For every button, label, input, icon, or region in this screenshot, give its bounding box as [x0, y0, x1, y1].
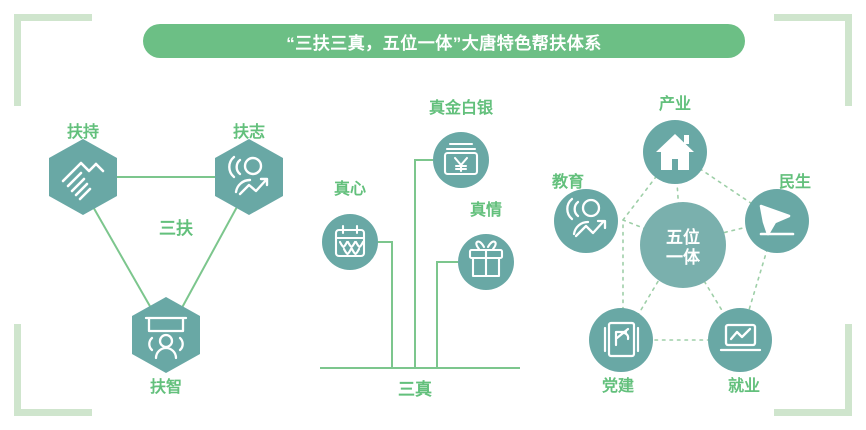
label-fuchi: 扶持	[67, 118, 99, 142]
node-dangjian[interactable]	[589, 308, 653, 372]
label-jiaoyu: 教育	[552, 168, 584, 192]
hub-label: 五位 一体	[666, 228, 700, 268]
label-zhenxin: 真心	[334, 175, 366, 199]
node-zhenxin[interactable]	[322, 214, 378, 270]
label-chanye: 产业	[659, 90, 691, 114]
label-minsheng: 民生	[779, 168, 811, 192]
node-fuzhi-will[interactable]	[215, 139, 283, 215]
label-fuzhi-wisdom: 扶智	[150, 373, 182, 397]
node-zhenqing[interactable]	[458, 234, 514, 290]
node-fuzhi-wisdom[interactable]	[132, 297, 200, 373]
node-chanye[interactable]	[643, 120, 707, 184]
node-minsheng[interactable]	[745, 189, 809, 253]
label-fuzhi-will: 扶志	[233, 118, 265, 142]
hub-label-line2: 一体	[666, 248, 700, 268]
label-zhenqing: 真情	[470, 196, 502, 220]
node-jiuye[interactable]	[708, 308, 772, 372]
infographic-poster: “三扶三真，五位一体”大唐特色帮扶体系	[0, 0, 866, 430]
label-group-sanzhen: 三真	[398, 375, 432, 400]
label-zhenjinbaiyin: 真金白银	[429, 94, 493, 118]
diagram-canvas	[0, 0, 866, 430]
label-jiuye: 就业	[728, 372, 760, 396]
node-zhenjinbaiyin[interactable]	[433, 132, 489, 188]
node-jiaoyu[interactable]	[554, 189, 618, 253]
hub-label-line1: 五位	[666, 228, 700, 248]
label-dangjian: 党建	[602, 372, 634, 396]
node-fuchi[interactable]	[49, 139, 117, 215]
label-group-sanfu: 三扶	[159, 214, 193, 239]
